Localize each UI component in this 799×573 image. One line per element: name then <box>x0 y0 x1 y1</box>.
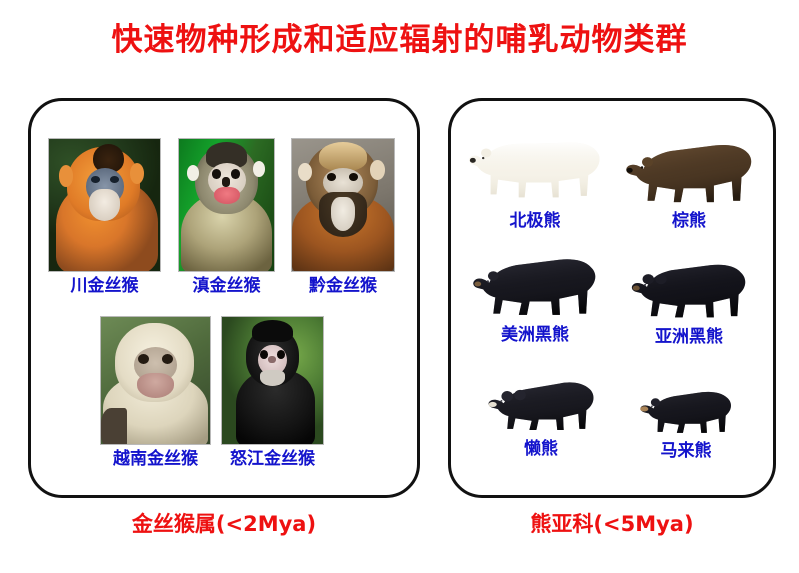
species-cell-tonkin-snub-nosed-monkey[interactable]: 越南金丝猴 <box>100 316 211 468</box>
species-label: 美洲黑熊 <box>465 327 605 344</box>
caption-monkeys: 金丝猴属(<2Mya) <box>28 508 420 538</box>
gray-snub-nosed-monkey-photo <box>291 138 395 272</box>
species-cell-american-black-bear[interactable]: 美洲黑熊 <box>465 249 605 344</box>
black-snub-nosed-monkey-photo <box>178 138 275 272</box>
species-cell-myanmar-snub-nosed-monkey[interactable]: 怒江金丝猴 <box>221 316 324 468</box>
species-label: 懒熊 <box>479 441 603 458</box>
species-cell-polar-bear[interactable]: 北极熊 <box>461 125 609 230</box>
species-cell-sloth-bear[interactable]: 懒熊 <box>479 373 603 458</box>
species-label: 亚洲黑熊 <box>623 329 755 346</box>
species-label: 怒江金丝猴 <box>221 451 324 468</box>
species-cell-gray-snub-nosed-monkey[interactable]: 黔金丝猴 <box>291 138 395 295</box>
species-cell-sun-bear[interactable]: 马来熊 <box>633 383 739 460</box>
page-title: 快速物种形成和适应辐射的哺乳动物类群 <box>0 14 799 59</box>
slide-canvas: 快速物种形成和适应辐射的哺乳动物类群 川金丝猴 <box>0 0 799 573</box>
sloth-bear-illustration <box>479 373 603 437</box>
species-label: 黔金丝猴 <box>291 278 395 295</box>
species-label: 川金丝猴 <box>48 278 161 295</box>
species-cell-brown-bear[interactable]: 棕熊 <box>619 133 759 230</box>
asiatic-black-bear-illustration <box>623 255 755 325</box>
polar-bear-illustration <box>461 125 609 209</box>
species-cell-sichuan-golden-monkey[interactable]: 川金丝猴 <box>48 138 161 295</box>
tonkin-snub-nosed-monkey-photo <box>100 316 211 445</box>
species-label: 越南金丝猴 <box>100 451 211 468</box>
species-label: 马来熊 <box>633 443 739 460</box>
species-label: 北极熊 <box>461 213 609 230</box>
panel-monkeys: 川金丝猴 滇金丝猴 <box>28 98 420 498</box>
species-label: 棕熊 <box>619 213 759 230</box>
myanmar-snub-nosed-monkey-photo <box>221 316 324 445</box>
brown-bear-illustration <box>619 133 759 209</box>
sun-bear-illustration <box>633 383 739 439</box>
sichuan-golden-snub-nosed-monkey-photo <box>48 138 161 272</box>
species-cell-asiatic-black-bear[interactable]: 亚洲黑熊 <box>623 255 755 346</box>
species-label: 滇金丝猴 <box>178 278 275 295</box>
panel-bears: 北极熊 <box>448 98 776 498</box>
species-cell-black-snub-nosed-monkey[interactable]: 滇金丝猴 <box>178 138 275 295</box>
american-black-bear-illustration <box>465 249 605 323</box>
caption-bears: 熊亚科(<5Mya) <box>448 508 776 538</box>
